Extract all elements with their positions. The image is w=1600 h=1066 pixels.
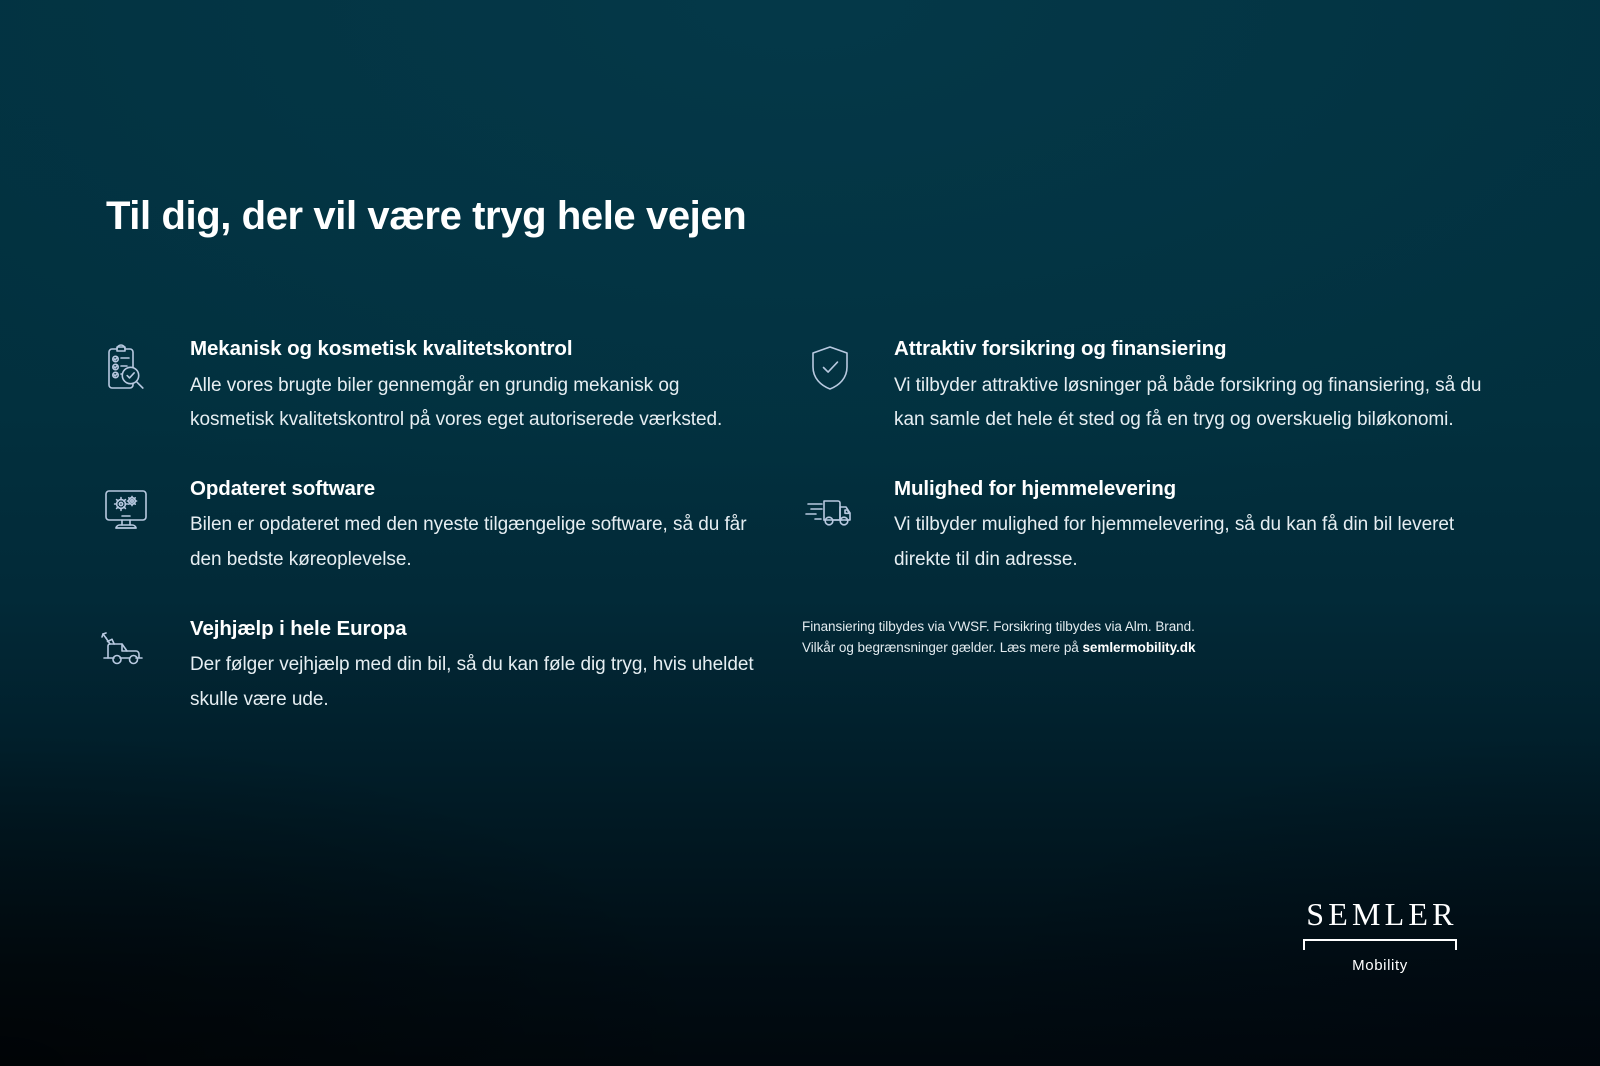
fine-print-prefix: Vilkår og begrænsninger gælder. Læs mere…: [802, 640, 1082, 655]
feature-body: Der følger vejhjælp med din bil, så du k…: [190, 648, 758, 717]
logo-wordmark: SEMLER: [1302, 898, 1458, 930]
marketing-page: Til dig, der vil være tryg hele vejen: [0, 0, 1600, 1066]
feature-title: Mekanisk og kosmetisk kvalitetskontrol: [190, 336, 758, 362]
tow-truck-icon: [98, 620, 160, 678]
features-column-left: Mekanisk og kosmetisk kvalitetskontrol A…: [98, 336, 758, 717]
feature-updated-software: Opdateret software Bilen er opdateret me…: [98, 476, 758, 578]
feature-title: Attraktiv forsikring og finansiering: [894, 336, 1482, 362]
delivery-truck-icon: [802, 480, 864, 538]
fine-print-line-1: Finansiering tilbydes via VWSF. Forsikri…: [802, 616, 1482, 638]
feature-roadside-assistance: Vejhjælp i hele Europa Der følger vejhjæ…: [98, 616, 758, 718]
feature-body: Alle vores brugte biler gennemgår en gru…: [190, 369, 758, 438]
semler-mobility-logo: SEMLER Mobility: [1302, 898, 1458, 974]
feature-body: Bilen er opdateret med den nyeste tilgæn…: [190, 508, 758, 577]
page-title: Til dig, der vil være tryg hele vejen: [106, 194, 746, 239]
semlermobility-link[interactable]: semlermobility.dk: [1082, 640, 1195, 655]
monitor-gears-icon: [98, 480, 160, 538]
logo-bracket-rule: [1303, 939, 1457, 950]
feature-title: Mulighed for hjemmelevering: [894, 476, 1482, 502]
feature-body: Vi tilbyder attraktive løsninger på både…: [894, 369, 1482, 438]
fine-print-line-2: Vilkår og begrænsninger gælder. Læs mere…: [802, 637, 1482, 659]
feature-insurance-financing: Attraktiv forsikring og finansiering Vi …: [802, 336, 1482, 438]
feature-home-delivery: Mulighed for hjemmelevering Vi tilbyder …: [802, 476, 1482, 578]
feature-quality-control: Mekanisk og kosmetisk kvalitetskontrol A…: [98, 336, 758, 438]
feature-title: Vejhjælp i hele Europa: [190, 616, 758, 642]
logo-subtitle: Mobility: [1302, 957, 1458, 974]
feature-title: Opdateret software: [190, 476, 758, 502]
feature-body: Vi tilbyder mulighed for hjemmelevering,…: [894, 508, 1482, 577]
clipboard-check-magnifier-icon: [98, 340, 160, 398]
shield-check-icon: [802, 340, 864, 398]
features-column-right: Attraktiv forsikring og finansiering Vi …: [802, 336, 1482, 659]
fine-print: Finansiering tilbydes via VWSF. Forsikri…: [802, 616, 1482, 660]
